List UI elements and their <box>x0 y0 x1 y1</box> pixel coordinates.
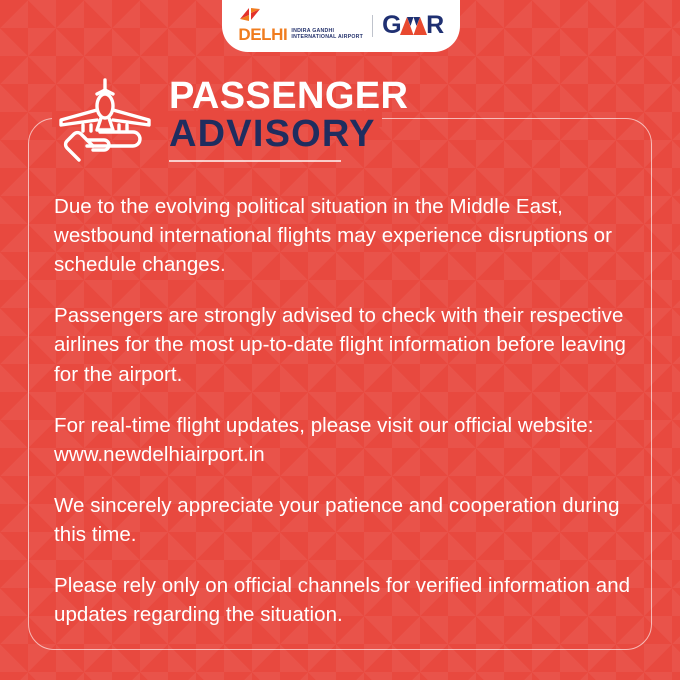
advisory-title-block: PASSENGER ADVISORY <box>169 72 408 162</box>
logo-row: DELHI INDIRA GANDHI INTERNATIONAL AIRPOR… <box>238 8 443 43</box>
advisory-header: PASSENGER ADVISORY <box>57 72 408 169</box>
title-underline <box>169 160 341 162</box>
gmr-logo: G R <box>382 11 444 40</box>
gmr-letter-g: G <box>382 13 401 38</box>
page-title-line2: ADVISORY <box>169 116 408 153</box>
logo-divider <box>372 15 373 37</box>
page-title-line1: PASSENGER <box>169 78 408 115</box>
delhi-wordmark: DELHI <box>238 26 287 43</box>
airplane-in-hand-icon <box>57 76 153 169</box>
advisory-paragraph: We sincerely appreciate your patience an… <box>54 491 636 549</box>
delhi-text-row: DELHI INDIRA GANDHI INTERNATIONAL AIRPOR… <box>238 26 363 43</box>
advisory-paragraph: Please rely only on official channels fo… <box>54 571 636 629</box>
delhi-airport-logo: DELHI INDIRA GANDHI INTERNATIONAL AIRPOR… <box>238 8 363 43</box>
logo-banner: DELHI INDIRA GANDHI INTERNATIONAL AIRPOR… <box>222 0 460 52</box>
delhi-subtitle-line2: INTERNATIONAL AIRPORT <box>291 35 363 41</box>
gmr-letter-r: R <box>426 13 444 38</box>
advisory-body: Due to the evolving political situation … <box>54 192 636 629</box>
delhi-arrow-mark-icon <box>240 8 262 25</box>
delhi-subtitle: INDIRA GANDHI INTERNATIONAL AIRPORT <box>291 29 363 41</box>
passenger-advisory-poster: DELHI INDIRA GANDHI INTERNATIONAL AIRPOR… <box>0 0 680 680</box>
advisory-paragraph: Due to the evolving political situation … <box>54 192 636 279</box>
gmr-mountain-m-icon <box>400 11 427 40</box>
advisory-paragraph-website: For real-time flight updates, please vis… <box>54 411 636 469</box>
advisory-paragraph: Passengers are strongly advised to check… <box>54 301 636 388</box>
